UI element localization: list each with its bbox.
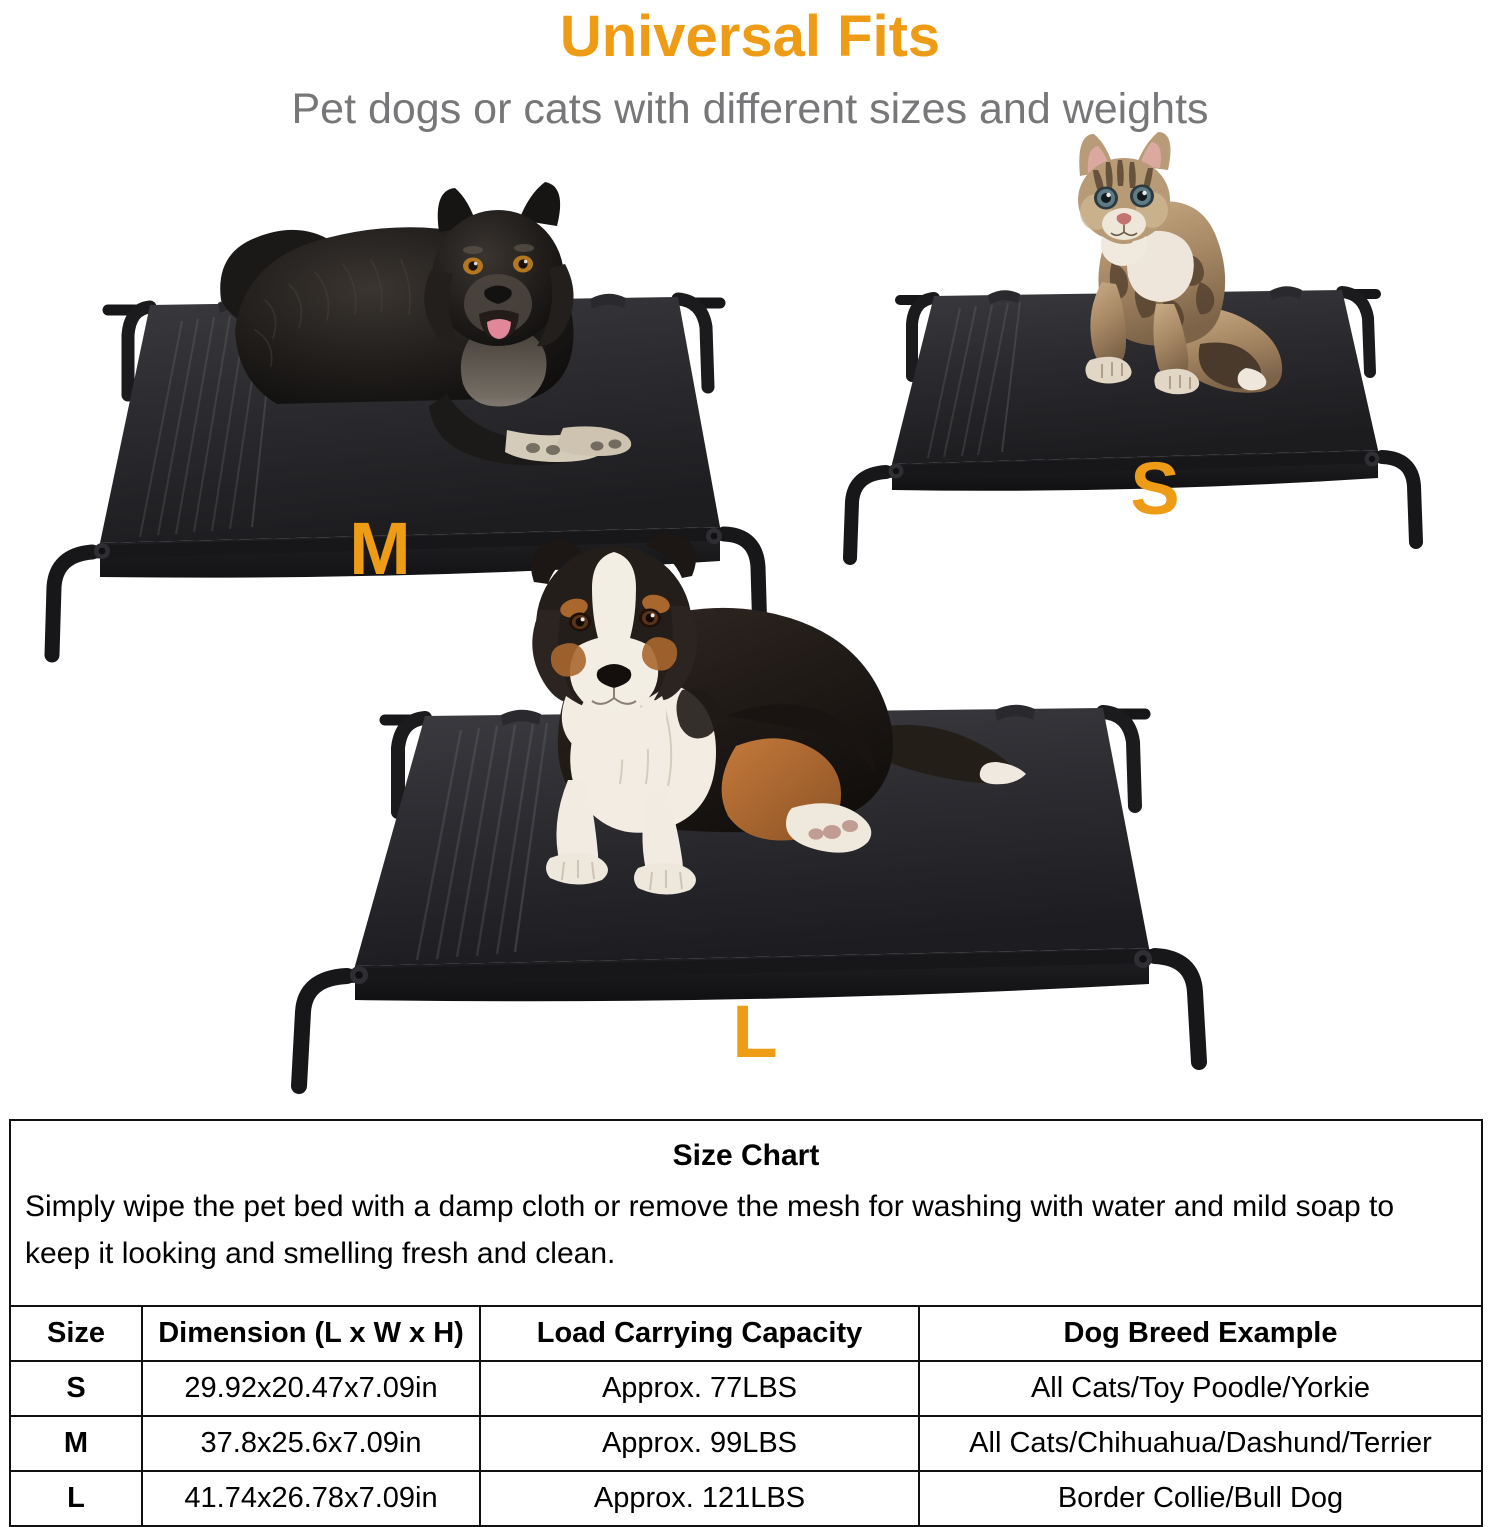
cell-breeds-m: All Cats/Chihuahua/Dashund/Terrier [919,1416,1481,1471]
cell-size-m: M [11,1416,142,1471]
cell-breeds-s: All Cats/Toy Poodle/Yorkie [919,1361,1481,1416]
cell-dimension-l: 41.74x26.78x7.09in [142,1471,480,1525]
size-chart-heading: Size Chart [11,1121,1481,1179]
cell-dimension-s: 29.92x20.47x7.09in [142,1361,480,1416]
size-letter-s: S [1075,452,1235,526]
cell-size-s: S [11,1361,142,1416]
black-fluffy-dog [215,180,675,480]
cell-capacity-l: Approx. 121LBS [480,1471,919,1525]
page-title: Universal Fits [0,2,1500,72]
size-table: Size Dimension (L x W x H) Load Carrying… [11,1305,1481,1525]
size-chart: Size Chart Simply wipe the pet bed with … [9,1119,1483,1527]
size-letter-m: M [300,512,460,586]
table-row: L 41.74x26.78x7.09in Approx. 121LBS Bord… [11,1471,1481,1525]
page-subtitle: Pet dogs or cats with different sizes an… [0,82,1500,136]
col-header-breeds: Dog Breed Example [919,1306,1481,1361]
table-header-row: Size Dimension (L x W x H) Load Carrying… [11,1306,1481,1361]
cell-breeds-l: Border Collie/Bull Dog [919,1471,1481,1525]
col-header-dimension: Dimension (L x W x H) [142,1306,480,1361]
size-letter-l: L [675,995,835,1069]
australian-shepherd-puppy [440,540,1100,940]
table-row: M 37.8x25.6x7.09in Approx. 99LBS All Cat… [11,1416,1481,1471]
cell-size-l: L [11,1471,142,1525]
col-header-size: Size [11,1306,142,1361]
cell-dimension-m: 37.8x25.6x7.09in [142,1416,480,1471]
cell-capacity-s: Approx. 77LBS [480,1361,919,1416]
table-row: S 29.92x20.47x7.09in Approx. 77LBS All C… [11,1361,1481,1416]
infographic-page: Universal Fits Pet dogs or cats with dif… [0,0,1500,1500]
tabby-kitten [1040,132,1300,402]
size-chart-note: Simply wipe the pet bed with a damp clot… [11,1179,1481,1305]
cell-capacity-m: Approx. 99LBS [480,1416,919,1471]
col-header-capacity: Load Carrying Capacity [480,1306,919,1361]
